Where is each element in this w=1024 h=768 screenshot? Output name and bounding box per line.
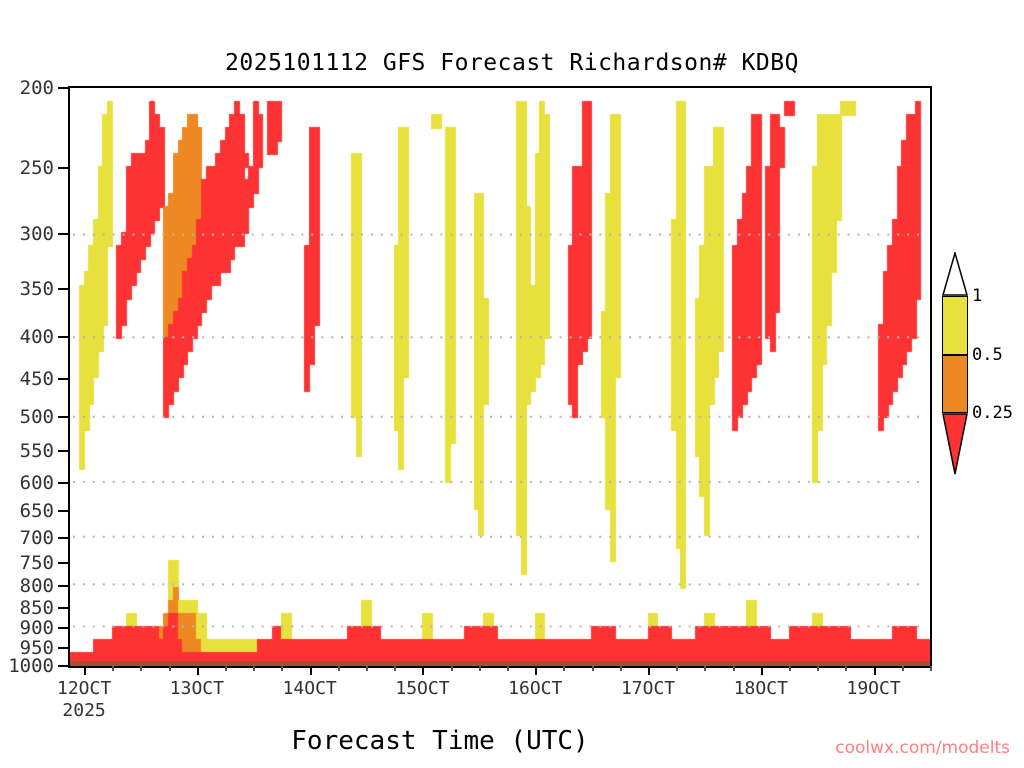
colorbar-tick-label: 1 (972, 286, 982, 306)
colorbar-segment (942, 355, 968, 414)
colorbar-legend: 10.50.25 (942, 296, 968, 472)
x-tick-minor (620, 666, 622, 671)
x-tick-minor (902, 666, 904, 671)
x-tick-minor (451, 666, 453, 671)
x-tick-minor (930, 666, 932, 671)
x-tick-minor (563, 666, 565, 671)
x-tick-minor (394, 666, 396, 671)
x-tick-label: 19OCT (847, 678, 901, 699)
x-tick-label: 14OCT (283, 678, 337, 699)
x-tick-minor (169, 666, 171, 671)
x-tick-minor (479, 666, 481, 671)
x-tick-major (535, 666, 537, 675)
colorbar-tick-label: 0.5 (972, 345, 1003, 365)
x-tick-minor (507, 666, 509, 671)
x-tick-major (84, 666, 86, 675)
x-tick-label: 18OCT (734, 678, 788, 699)
x-tick-major (197, 666, 199, 675)
x-tick-minor (733, 666, 735, 671)
x-tick-major (761, 666, 763, 675)
x-tick-minor (225, 666, 227, 671)
x-axis: 12OCT13OCT14OCT15OCT16OCT17OCT18OCT19OCT… (0, 0, 1024, 768)
colorbar-over-arrow (942, 252, 968, 296)
x-axis-year-label: 2025 (62, 700, 105, 721)
colorbar-under-arrow (942, 413, 968, 475)
x-tick-minor (281, 666, 283, 671)
x-tick-label: 16OCT (508, 678, 562, 699)
x-tick-minor (253, 666, 255, 671)
x-tick-label: 12OCT (57, 678, 111, 699)
x-tick-minor (676, 666, 678, 671)
x-tick-major (874, 666, 876, 675)
x-tick-minor (845, 666, 847, 671)
x-tick-minor (789, 666, 791, 671)
colorbar-tick-label: 0.25 (972, 403, 1013, 423)
x-tick-major (310, 666, 312, 675)
x-tick-minor (817, 666, 819, 671)
x-axis-title: Forecast Time (UTC) (0, 726, 880, 756)
x-tick-major (422, 666, 424, 675)
colorbar-segment (942, 296, 968, 355)
x-tick-minor (140, 666, 142, 671)
x-tick-minor (592, 666, 594, 671)
x-tick-label: 15OCT (395, 678, 449, 699)
x-tick-label: 13OCT (170, 678, 224, 699)
x-tick-minor (338, 666, 340, 671)
x-tick-major (648, 666, 650, 675)
site-credit: coolwx.com/modelts (835, 738, 1010, 758)
x-tick-minor (704, 666, 706, 671)
x-tick-minor (112, 666, 114, 671)
x-tick-label: 17OCT (621, 678, 675, 699)
x-tick-minor (366, 666, 368, 671)
